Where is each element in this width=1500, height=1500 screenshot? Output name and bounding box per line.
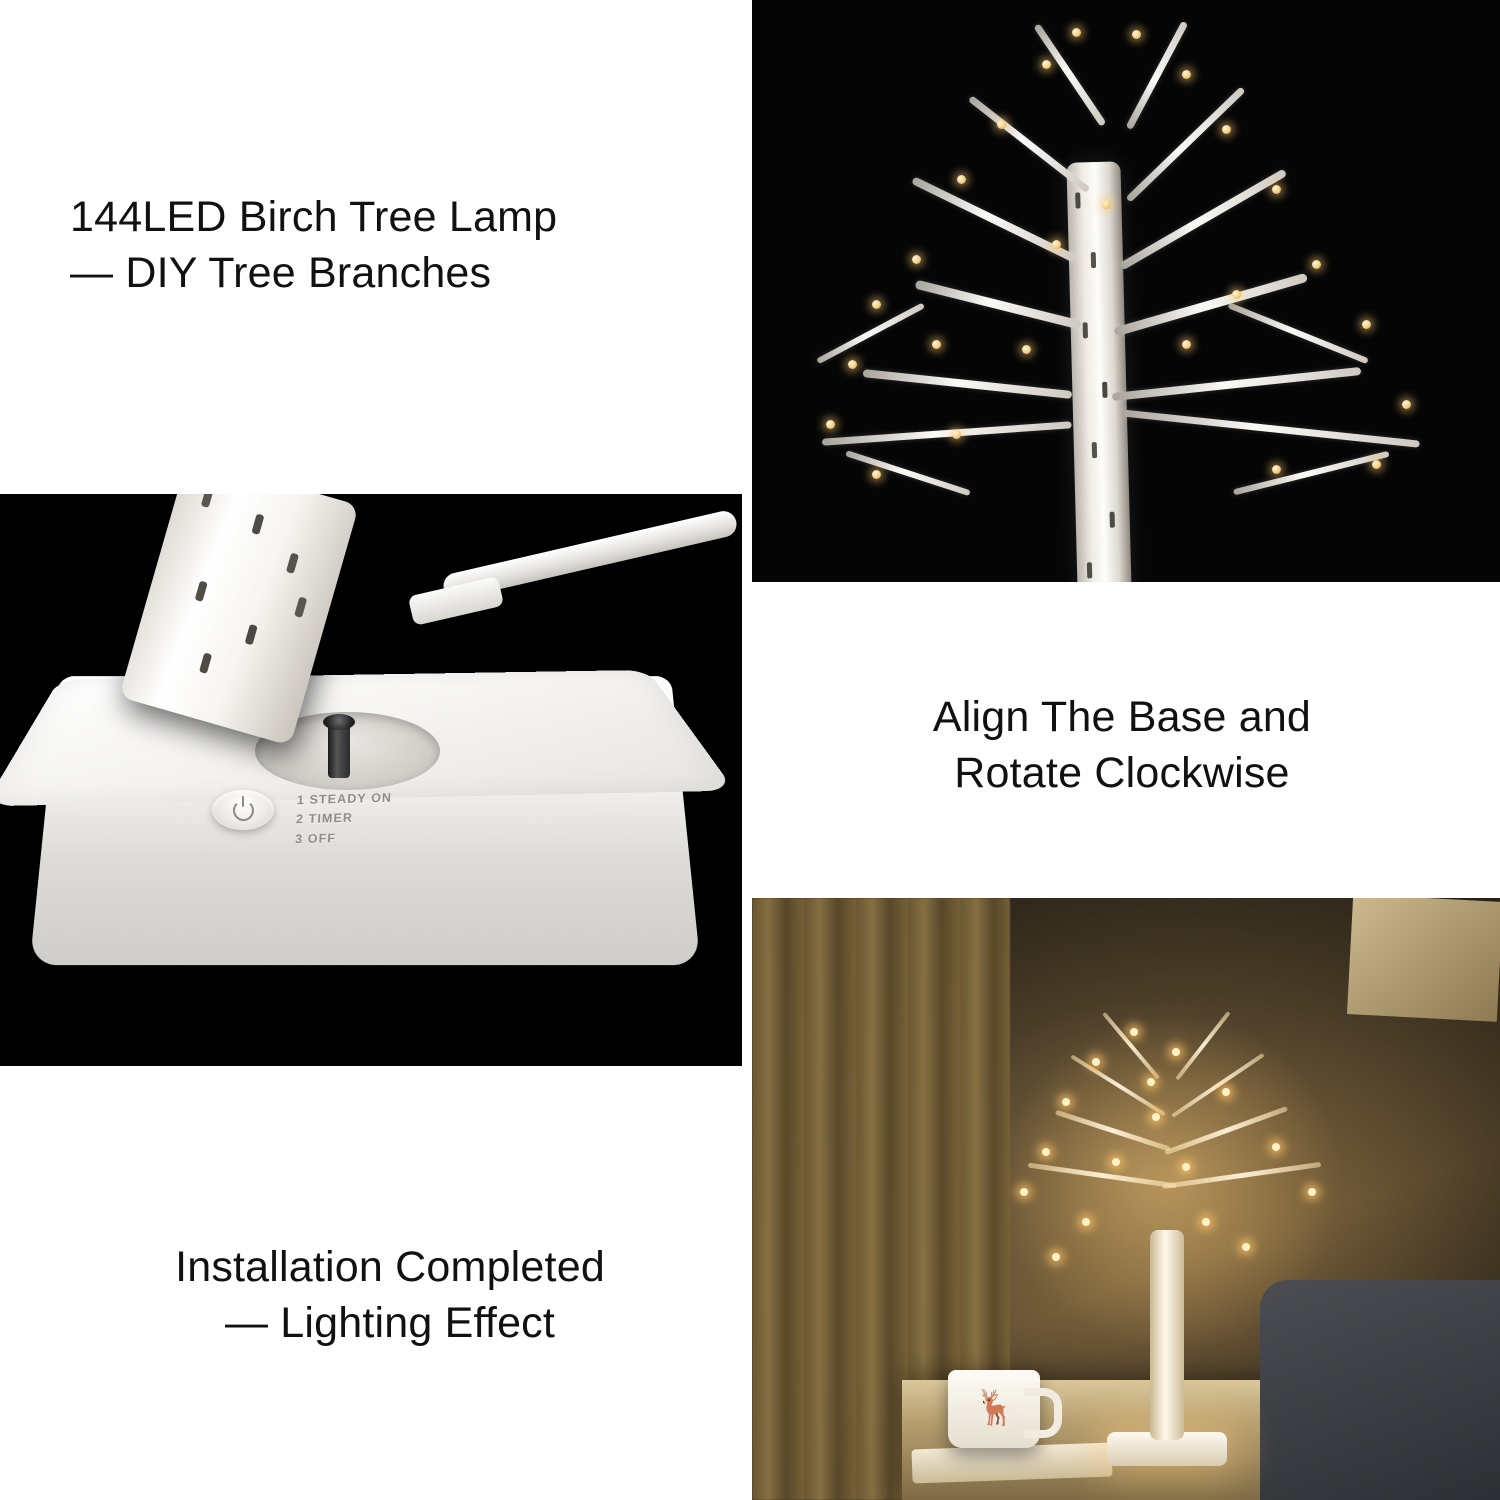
- gutter-horizontal-right-top: [752, 582, 1500, 592]
- led-bud: [848, 360, 857, 369]
- lit-led: [1130, 1028, 1138, 1036]
- lit-led: [1052, 1253, 1060, 1261]
- books: [911, 1443, 1112, 1484]
- branch: [915, 280, 1082, 330]
- lit-led: [1182, 1163, 1190, 1171]
- led-bud: [1072, 28, 1081, 37]
- lit-led: [1020, 1188, 1028, 1196]
- mode-label-list: 1 STEADY ON 2 TIMER 3 OFF: [295, 789, 393, 850]
- led-bud: [1022, 345, 1031, 354]
- lit-led: [1272, 1143, 1280, 1151]
- caption-align-base: Align The Base and Rotate Clockwise: [752, 690, 1492, 802]
- sofa: [1260, 1280, 1500, 1500]
- led-bud: [952, 430, 961, 439]
- power-button[interactable]: [212, 790, 274, 830]
- led-bud: [1182, 340, 1191, 349]
- lit-led: [1202, 1218, 1210, 1226]
- led-bud: [1362, 320, 1371, 329]
- branch: [1227, 302, 1368, 364]
- led-bud: [1222, 125, 1231, 134]
- led-bud: [1312, 260, 1321, 269]
- infographic-board: 144LED Birch Tree Lamp — DIY Tree Branch…: [0, 0, 1500, 1500]
- caption-panel-top-left: 144LED Birch Tree Lamp — DIY Tree Branch…: [0, 0, 742, 484]
- branch: [822, 421, 1072, 445]
- lit-led: [1112, 1158, 1120, 1166]
- led-bud: [872, 470, 881, 479]
- wall-frame: [1347, 898, 1500, 1022]
- caption-title-product: 144LED Birch Tree Lamp — DIY Tree Branch…: [70, 190, 690, 302]
- lit-led: [1042, 1148, 1050, 1156]
- lit-led: [1152, 1113, 1160, 1121]
- branch: [1033, 23, 1106, 126]
- lit-led: [1147, 1078, 1155, 1086]
- branch: [863, 369, 1073, 399]
- led-bud: [957, 175, 966, 184]
- caption-installation-completed: Installation Completed — Lighting Effect: [40, 1240, 740, 1352]
- mug: 🦌: [948, 1370, 1040, 1448]
- led-bud: [997, 120, 1006, 129]
- led-bud: [932, 340, 941, 349]
- led-bud: [1272, 185, 1281, 194]
- gutter-horizontal-right-bottom: [752, 888, 1500, 898]
- led-bud: [1402, 400, 1411, 409]
- led-bud: [1042, 60, 1051, 69]
- power-icon: [233, 800, 254, 821]
- deer-icon: 🦌: [974, 1386, 1012, 1430]
- branch: [1233, 451, 1390, 496]
- photo-lamp-base: 1 STEADY ON 2 TIMER 3 OFF: [0, 494, 742, 1076]
- branch: [1112, 367, 1361, 401]
- gutter-horizontal-left-bottom: [0, 1066, 742, 1076]
- gutter-vertical: [742, 0, 752, 1500]
- led-bud: [872, 300, 881, 309]
- lit-led: [1308, 1188, 1316, 1196]
- led-bud: [1372, 460, 1381, 469]
- led-bud: [1182, 70, 1191, 79]
- branch: [968, 95, 1091, 193]
- led-bud: [912, 255, 921, 264]
- lit-led: [1082, 1218, 1090, 1226]
- branch: [1121, 409, 1420, 447]
- photo-birch-tree-dark: [752, 0, 1500, 582]
- photo-lamp-in-room: 🦌: [752, 898, 1500, 1500]
- base-socket-pin: [328, 722, 350, 778]
- lit-led: [1172, 1048, 1180, 1056]
- gutter-horizontal-left-top: [0, 484, 742, 494]
- branch: [911, 176, 1076, 262]
- led-bud: [826, 420, 835, 429]
- lit-led: [1242, 1243, 1250, 1251]
- led-bud: [1052, 240, 1061, 249]
- lit-led: [1062, 1098, 1070, 1106]
- led-bud: [1232, 290, 1241, 299]
- lit-led: [1222, 1088, 1230, 1096]
- led-bud: [1272, 465, 1281, 474]
- led-bud: [1132, 30, 1141, 39]
- lit-lamp-trunk: [1150, 1230, 1184, 1440]
- led-bud: [1102, 200, 1111, 209]
- lit-led: [1092, 1058, 1100, 1066]
- branch: [816, 303, 925, 365]
- tree-trunk: [1066, 161, 1131, 582]
- branch: [845, 450, 970, 496]
